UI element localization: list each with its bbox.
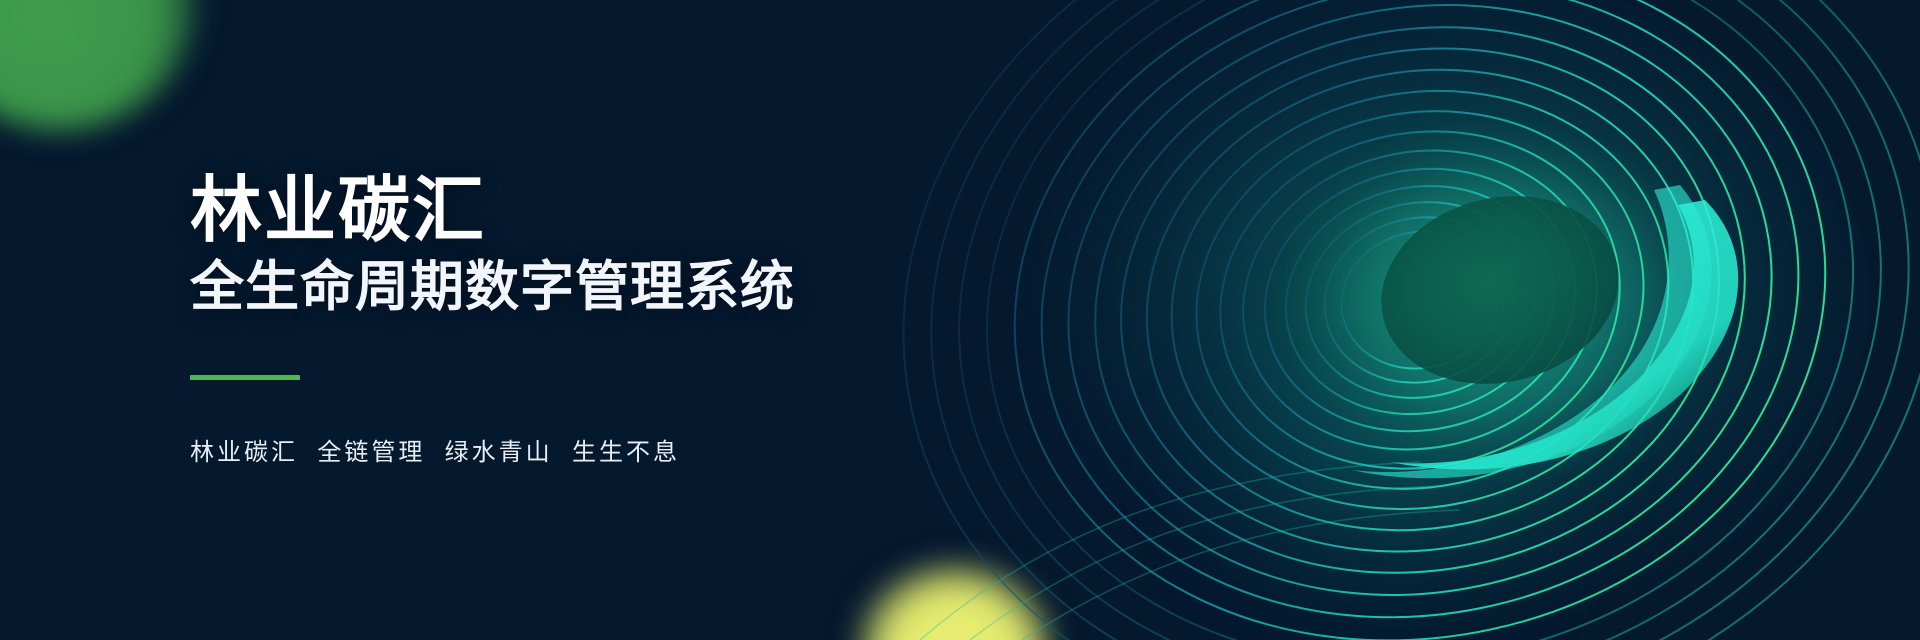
page-subtitle: 全生命周期数字管理系统: [190, 257, 795, 317]
hero-tagline: 林业碳汇 全链管理 绿水青山 生生不息: [190, 432, 795, 467]
concentric-rings-vortex-icon: [800, 0, 1920, 640]
page-title: 林业碳汇: [190, 173, 795, 251]
title-divider: [190, 375, 300, 380]
hero-banner: 林业碳汇 全生命周期数字管理系统 林业碳汇 全链管理 绿水青山 生生不息: [0, 0, 1920, 640]
green-circle-blob-icon: [0, 0, 195, 130]
hero-text-block: 林业碳汇 全生命周期数字管理系统 林业碳汇 全链管理 绿水青山 生生不息: [190, 0, 795, 640]
